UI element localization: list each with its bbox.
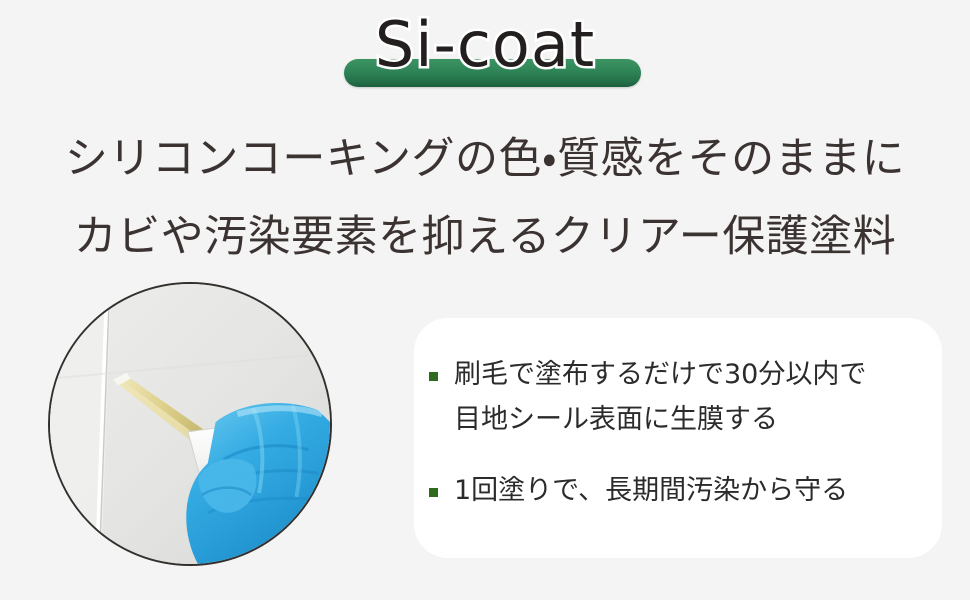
features-list: 刷毛で塗布するだけで30分以内で 目地シール表面に生膜する 1回塗りで、長期間汚…	[422, 352, 934, 513]
headline: シリコンコーキングの色・質感をそのままに カビや汚染要素を抑えるクリアー保護塗料	[0, 120, 970, 276]
bullet-square-icon	[429, 372, 438, 381]
feature-text-line: 目地シール表面に生膜する	[454, 397, 934, 442]
feature-item: 1回塗りで、長期間汚染から守る	[422, 468, 934, 513]
product-photo	[48, 282, 332, 566]
promo-banner: Si-coat シリコンコーキングの色・質感をそのままに カビや汚染要素を抑える…	[0, 0, 970, 600]
features-card: 刷毛で塗布するだけで30分以内で 目地シール表面に生膜する 1回塗りで、長期間汚…	[414, 318, 942, 558]
feature-text-line: 刷毛で塗布するだけで30分以内で	[454, 352, 934, 397]
logo-text: Si-coat	[0, 4, 970, 86]
headline-line-1: シリコンコーキングの色・質感をそのままに	[0, 120, 970, 198]
feature-text-line: 1回塗りで、長期間汚染から守る	[454, 468, 934, 513]
feature-item: 刷毛で塗布するだけで30分以内で 目地シール表面に生膜する	[422, 352, 934, 442]
brand-logo: Si-coat	[0, 4, 970, 96]
headline-line-2: カビや汚染要素を抑えるクリアー保護塗料	[0, 198, 970, 276]
bullet-square-icon	[429, 488, 438, 497]
product-photo-illustration	[50, 284, 330, 564]
